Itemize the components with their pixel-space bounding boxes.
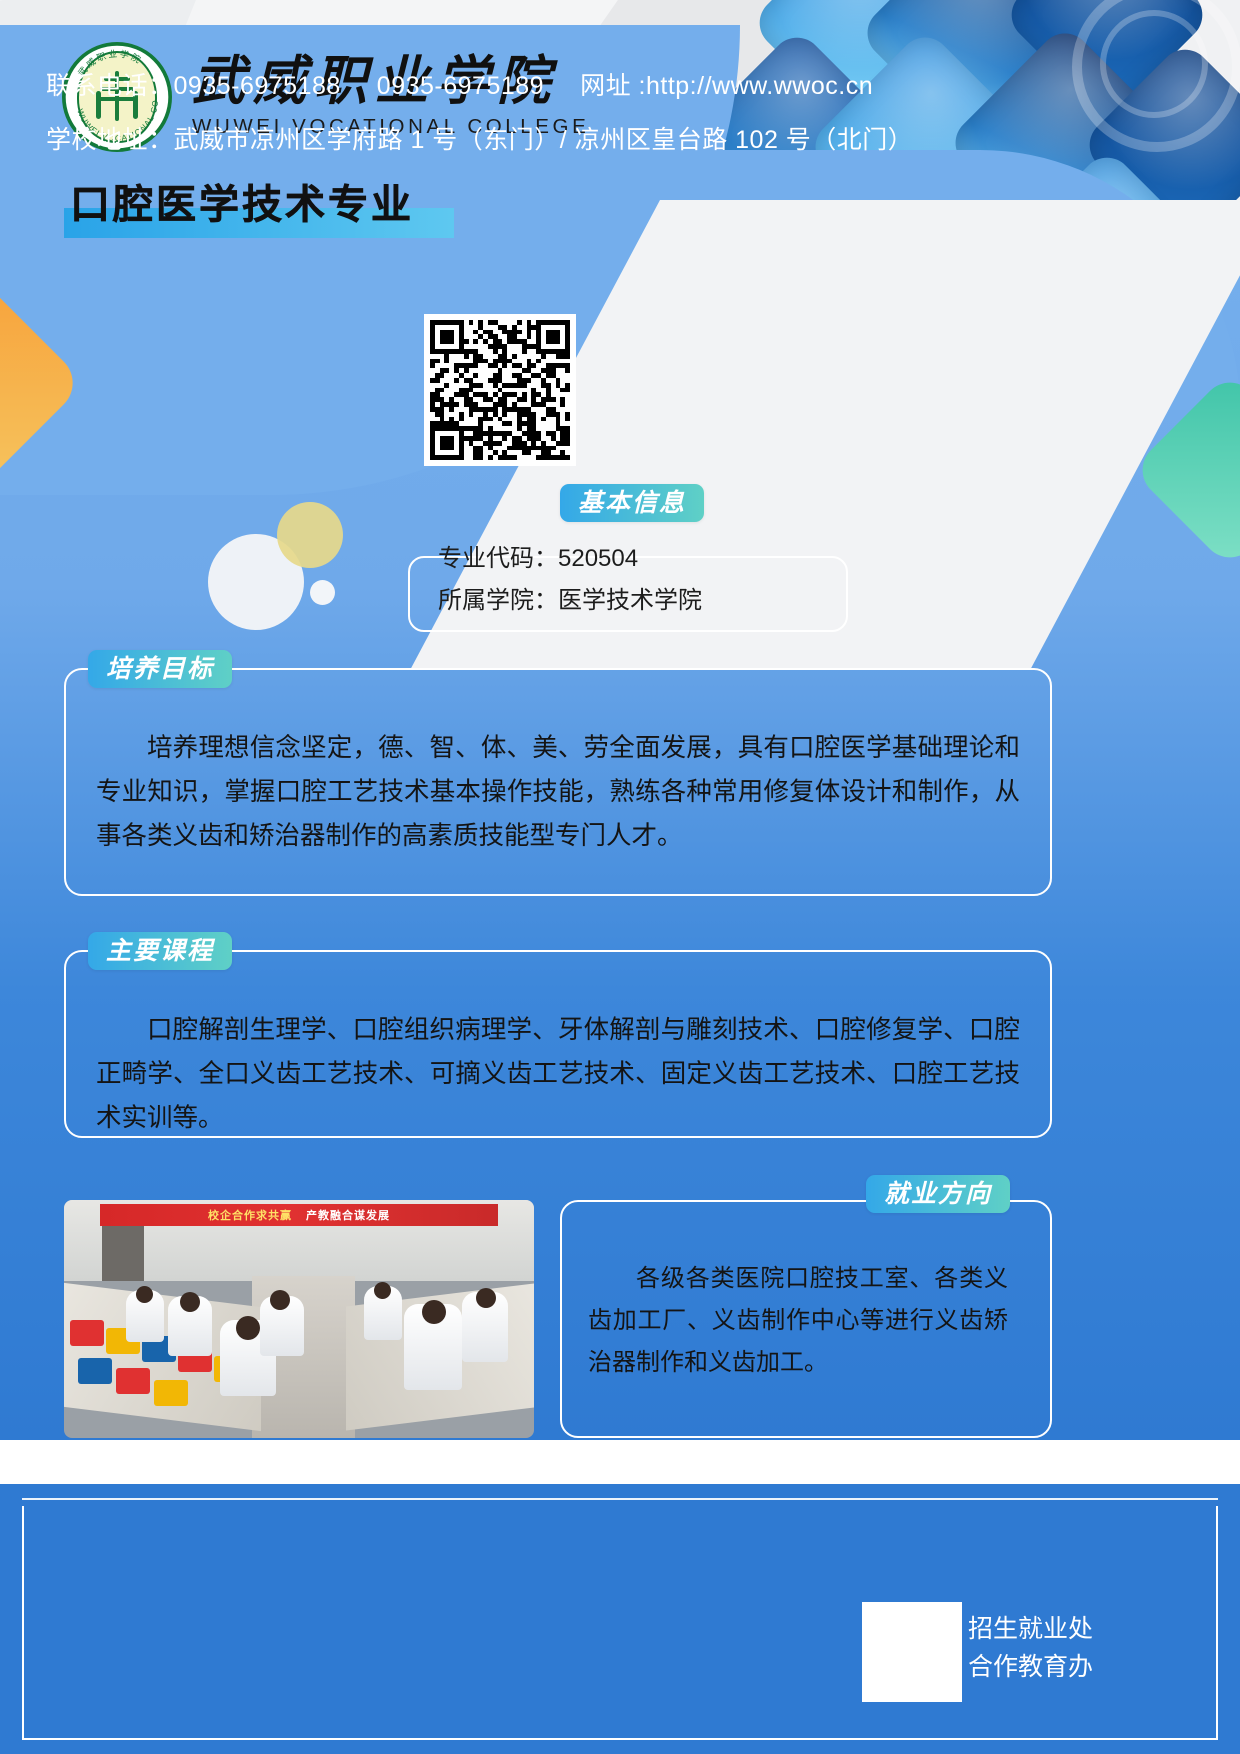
section-tag-basic-info: 基本信息	[560, 484, 704, 522]
photo-banner-left: 校企合作求共赢	[208, 1207, 292, 1223]
practice-room-photo: 校企合作求共赢 产教融合谋发展	[64, 1200, 534, 1438]
employment-text: 各级各类医院口腔技工室、各类义齿加工厂、义齿制作中心等进行义齿矫治器制作和义齿加…	[588, 1258, 1008, 1384]
footer-address-line: 学校地址：武威市凉州区学府路 1 号（东门）/ 凉州区皇台路 102 号（北门）	[46, 120, 913, 156]
footer-address-label: 学校地址：	[46, 126, 174, 154]
footer-phone-line: 联系电话：0935-69751880935-6975189网址 :http://…	[46, 66, 913, 102]
page-title: 口腔医学技术专业	[70, 172, 414, 230]
decor-bubble	[310, 580, 335, 605]
poster-root: WUWEI VOCATIONAL COLLEGE 武威职业学院	[0, 0, 1240, 1754]
footer-contact-lines: 联系电话：0935-69751880935-6975189网址 :http://…	[46, 66, 913, 156]
decor-bubble	[277, 502, 343, 568]
footer-dept-line-2: 合作教育办	[968, 1648, 1093, 1686]
major-title-wrap: 口腔医学技术专业	[70, 172, 414, 230]
photo-banner-right: 产教融合谋发展	[306, 1207, 390, 1223]
section-tag-main-courses: 主要课程	[88, 932, 232, 970]
footer-address: 武威市凉州区学府路 1 号（东门）/ 凉州区皇台路 102 号（北门）	[174, 126, 914, 154]
qr-code-icon[interactable]	[424, 314, 576, 466]
basic-info-lines: 专业代码：520504 所属学院：医学技术学院	[438, 538, 702, 622]
footer-divider	[22, 1498, 1218, 1500]
footer-department-block: 招生就业处 合作教育办	[968, 1610, 1093, 1686]
footer-phone-2: 0935-6975189	[377, 72, 544, 100]
basic-info-college: 所属学院：医学技术学院	[438, 580, 702, 622]
footer-website-label: 网址 :	[580, 72, 646, 100]
footer-website[interactable]: http://www.wwoc.cn	[646, 72, 873, 100]
section-tag-training-goal: 培养目标	[88, 650, 232, 688]
section-tag-employment: 就业方向	[866, 1175, 1010, 1213]
footer-phone-1: 0935-6975188	[174, 72, 341, 100]
footer-phone-label: 联系电话：	[46, 72, 174, 100]
training-goal-text: 培养理想信念坚定，德、智、体、美、劳全面发展，具有口腔医学基础理论和专业知识，掌…	[96, 726, 1020, 858]
qr-code-icon[interactable]	[862, 1602, 962, 1702]
main-courses-text: 口腔解剖生理学、口腔组织病理学、牙体解剖与雕刻技术、口腔修复学、口腔正畸学、全口…	[96, 1008, 1020, 1140]
photo-banner: 校企合作求共赢 产教融合谋发展	[100, 1204, 498, 1226]
basic-info-major-code: 专业代码：520504	[438, 538, 702, 580]
footer-dept-line-1: 招生就业处	[968, 1610, 1093, 1648]
